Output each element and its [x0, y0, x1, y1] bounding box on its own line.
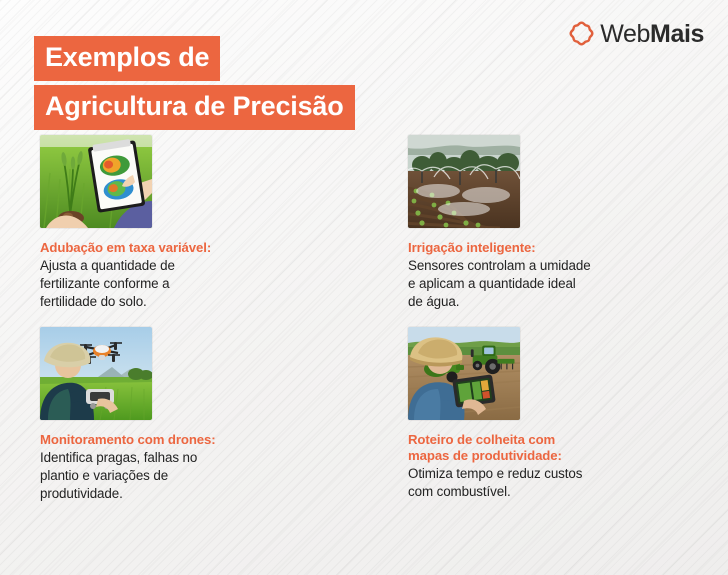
drone-monitoring-photo: [40, 327, 152, 420]
caption-body: Identifica pragas, falhas no plantio e v…: [40, 449, 354, 502]
title-banner-line-2: Agricultura de Precisão: [34, 85, 355, 130]
caption-title: Irrigação inteligente:: [408, 240, 718, 256]
brand-name-light: Web: [600, 20, 650, 48]
variable-rate-fertilization-photo: [40, 135, 152, 228]
page-title: Exemplos de Agricultura de Precisão: [34, 36, 355, 130]
infographic-canvas: WebMais Exemplos de Agricultura de Preci…: [0, 0, 728, 575]
example-item-smart-irrigation: Irrigação inteligente: Sensores controla…: [364, 135, 728, 311]
caption-body: Otimiza tempo e reduz custos com combust…: [408, 465, 718, 501]
webmais-clover-icon: [568, 21, 595, 48]
grid-row-2: Monitoramento com drones: Identifica pra…: [0, 327, 728, 503]
title-banner-line-1: Exemplos de: [34, 36, 220, 81]
example-item-drone-monitoring: Monitoramento com drones: Identifica pra…: [0, 327, 364, 503]
smart-irrigation-photo: [408, 135, 520, 228]
example-item-variable-rate-fertilization: Adubação em taxa variável: Ajusta a quan…: [0, 135, 364, 311]
caption-body: Ajusta a quantidade de fertilizante conf…: [40, 257, 354, 310]
brand-logo: WebMais: [568, 21, 704, 48]
caption-block: Monitoramento com drones: Identifica pra…: [40, 432, 354, 503]
brand-name: WebMais: [600, 22, 704, 47]
caption-body: Sensores controlam a umidade e aplicam a…: [408, 257, 718, 310]
caption-block: Irrigação inteligente: Sensores controla…: [408, 240, 718, 311]
examples-grid: Adubação em taxa variável: Ajusta a quan…: [0, 135, 728, 502]
example-item-harvest-route-mapping: Roteiro de colheita com mapas de produti…: [364, 327, 728, 503]
caption-title: Roteiro de colheita com mapas de produti…: [408, 432, 718, 464]
caption-title: Monitoramento com drones:: [40, 432, 354, 448]
grid-row-1: Adubação em taxa variável: Ajusta a quan…: [0, 135, 728, 311]
caption-title: Adubação em taxa variável:: [40, 240, 354, 256]
brand-name-bold: Mais: [650, 20, 704, 48]
caption-block: Adubação em taxa variável: Ajusta a quan…: [40, 240, 354, 311]
harvest-route-mapping-photo: [408, 327, 520, 420]
caption-block: Roteiro de colheita com mapas de produti…: [408, 432, 718, 501]
